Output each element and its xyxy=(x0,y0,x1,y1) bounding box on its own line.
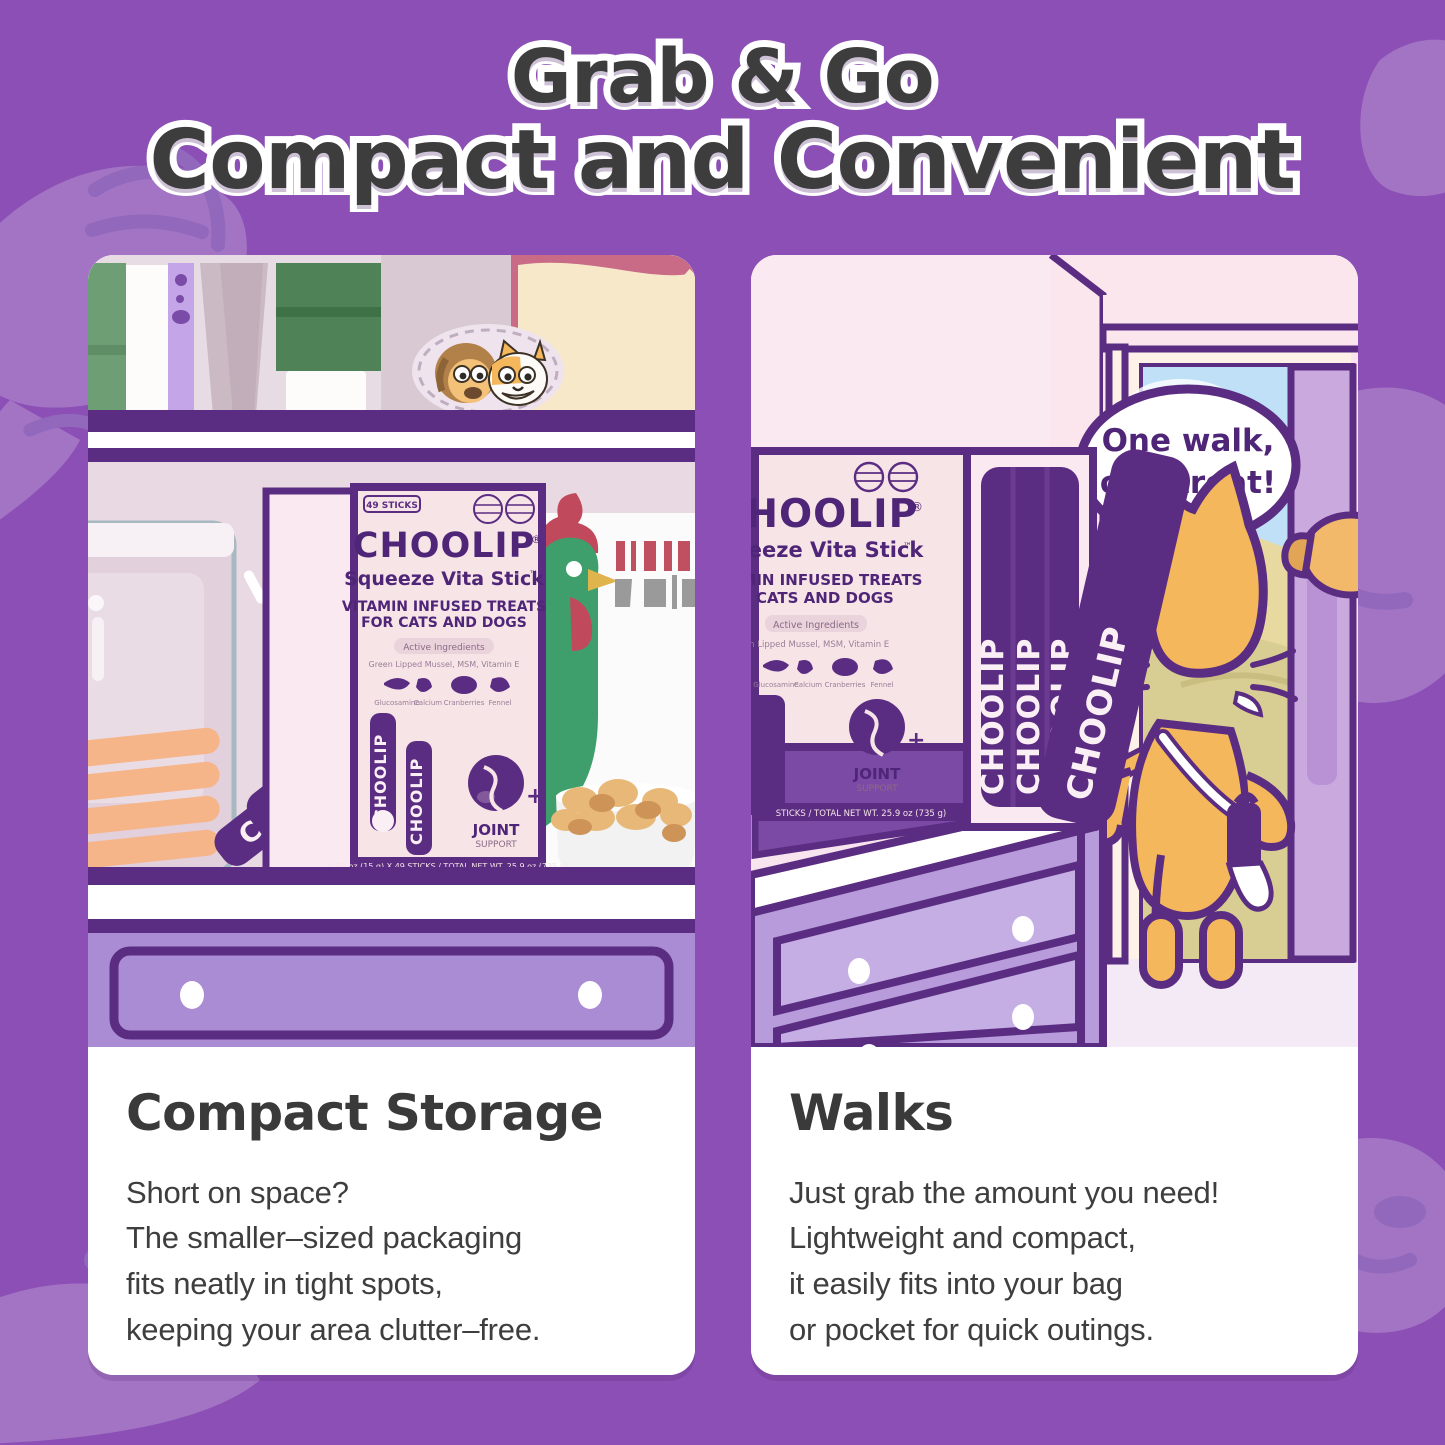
svg-text:Calcium: Calcium xyxy=(414,699,442,707)
svg-text:Glucosamine: Glucosamine xyxy=(374,699,419,707)
svg-text:FOR CATS AND DOGS: FOR CATS AND DOGS xyxy=(751,589,894,607)
svg-text:Cranberries: Cranberries xyxy=(444,699,485,707)
svg-text:CHOOLIP: CHOOLIP xyxy=(371,734,390,821)
svg-text:49 STICKS: 49 STICKS xyxy=(366,501,418,511)
choolip-product-box-counter: CHOOLIP ® Squeeze Vita Stick ™ VITAMIN I… xyxy=(751,451,967,855)
choolip-product-box: 49 STICKS CHOOLIP ® Squeeze Vita Stick ™ xyxy=(328,487,568,873)
svg-text:CHOOLIP: CHOOLIP xyxy=(751,492,918,537)
svg-text:SUPPORT: SUPPORT xyxy=(475,840,517,850)
card-description: Just grab the amount you need! Lightweig… xyxy=(789,1170,1322,1354)
svg-text:Squeeze Vita Stick: Squeeze Vita Stick xyxy=(344,568,544,590)
svg-text:+: + xyxy=(907,728,925,753)
svg-text:Glucosamine: Glucosamine xyxy=(753,681,798,689)
svg-text:CHOOLIP: CHOOLIP xyxy=(353,526,535,566)
svg-text:SUPPORT: SUPPORT xyxy=(856,784,898,794)
headline-line-2: Compact and Convenient xyxy=(0,120,1445,202)
svg-text:®: ® xyxy=(531,533,542,546)
card-title: Walks xyxy=(789,1087,1322,1140)
card-illustration-cabinet: CHOOLIP CHOOLIP CHOOLIP xyxy=(88,255,695,1047)
svg-text:+: + xyxy=(526,784,544,809)
headline-line-1: Grab & Go xyxy=(0,40,1445,114)
svg-text:Fennel: Fennel xyxy=(870,681,893,689)
dog-and-cat-photo-frame xyxy=(412,324,564,418)
card-title: Compact Storage xyxy=(126,1087,659,1140)
svg-text:Green Lipped Mussel, MSM, Vita: Green Lipped Mussel, MSM, Vitamin E xyxy=(751,640,889,650)
svg-text:STICKS / TOTAL NET WT. 25.9 oz: STICKS / TOTAL NET WT. 25.9 oz (735 g) xyxy=(776,809,947,819)
card-illustration-walk: One walk, one treat! xyxy=(751,255,1358,1047)
glass-snack-jar xyxy=(88,523,234,873)
pack-art-stick-1: CHOOLIP xyxy=(370,713,396,832)
svg-text:VITAMIN INFUSED TREATS: VITAMIN INFUSED TREATS xyxy=(751,571,922,589)
pack-art-stick-2: CHOOLIP xyxy=(406,741,432,855)
svg-text:FOR CATS AND DOGS: FOR CATS AND DOGS xyxy=(361,615,527,631)
page-headline: Grab & Go Compact and Convenient xyxy=(0,40,1445,202)
svg-text:Squeeze Vita Stick: Squeeze Vita Stick xyxy=(751,538,924,562)
svg-text:Active Ingredients: Active Ingredients xyxy=(403,643,485,653)
feature-card-walks: One walk, one treat! xyxy=(751,255,1358,1375)
svg-text:™: ™ xyxy=(529,570,538,580)
feature-card-row: CHOOLIP CHOOLIP CHOOLIP xyxy=(88,255,1358,1375)
card-description: Short on space? The smaller–sized packag… xyxy=(126,1170,659,1354)
svg-text:CHOOLIP: CHOOLIP xyxy=(407,758,426,845)
svg-text:VITAMIN INFUSED TREATS: VITAMIN INFUSED TREATS xyxy=(342,599,546,615)
svg-text:™: ™ xyxy=(903,542,912,552)
svg-text:Calcium: Calcium xyxy=(794,681,822,689)
svg-text:Active Ingredients: Active Ingredients xyxy=(773,620,859,631)
svg-text:Cranberries: Cranberries xyxy=(825,681,866,689)
svg-text:Green Lipped Mussel, MSM, Vita: Green Lipped Mussel, MSM, Vitamin E xyxy=(369,660,520,669)
svg-text:Fennel: Fennel xyxy=(488,699,511,707)
card-body-compact-storage: Compact Storage Short on space? The smal… xyxy=(88,1047,695,1375)
feature-card-compact-storage: CHOOLIP CHOOLIP CHOOLIP xyxy=(88,255,695,1375)
svg-text:JOINT: JOINT xyxy=(853,765,901,783)
svg-text:®: ® xyxy=(911,500,923,514)
card-body-walks: Walks Just grab the amount you need! Lig… xyxy=(751,1047,1358,1375)
svg-text:CHOOLIP: CHOOLIP xyxy=(976,638,1011,795)
svg-text:JOINT: JOINT xyxy=(472,821,520,839)
